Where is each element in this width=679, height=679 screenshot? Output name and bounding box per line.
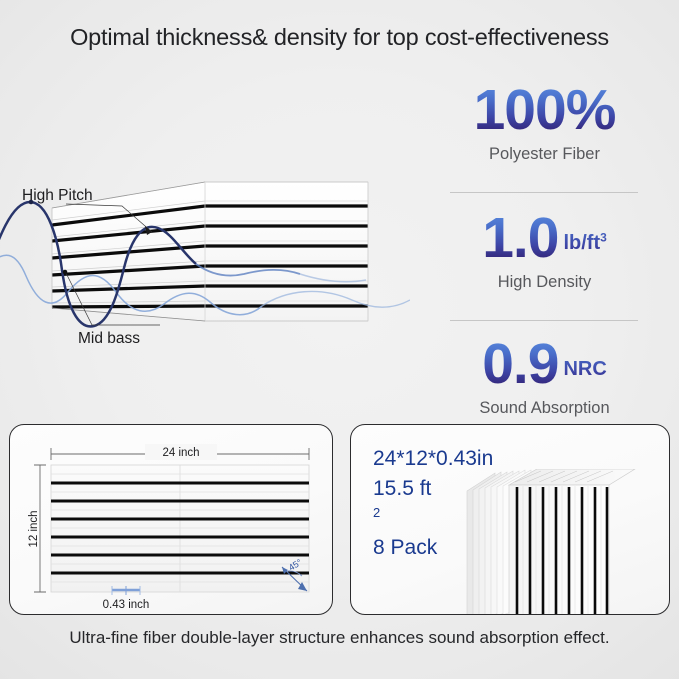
stat-label: Polyester Fiber xyxy=(420,145,669,164)
stat-value: 1.0 xyxy=(482,206,558,270)
stat-sound-absorption: 0.9NRC Sound Absorption xyxy=(420,336,669,418)
stat-unit-exponent: 3 xyxy=(600,230,607,244)
stack-top-face xyxy=(509,469,635,485)
dimension-card: 24 inch 12 inch 0.43 inch xyxy=(9,424,333,615)
stat-divider-1 xyxy=(450,192,638,193)
dimension-diagram: 24 inch 12 inch 0.43 inch xyxy=(10,425,331,613)
pack-area-exponent: 2 xyxy=(373,505,380,520)
infographic-root: Optimal thickness& density for top cost-… xyxy=(0,0,679,679)
stat-divider-2 xyxy=(450,320,638,321)
stat-value: 100% xyxy=(420,82,669,139)
stat-value-wrap: 0.9NRC xyxy=(420,336,669,393)
stat-unit: lb/ft3 xyxy=(563,232,606,254)
mid-bass-point xyxy=(63,270,68,275)
stat-value: 0.9 xyxy=(482,332,558,396)
stats-column: 100% Polyester Fiber 1.0lb/ft3 High Dens… xyxy=(420,82,669,412)
width-label: 24 inch xyxy=(162,447,199,459)
panel-slats xyxy=(52,182,368,321)
page-title: Optimal thickness& density for top cost-… xyxy=(0,24,679,51)
stat-high-density: 1.0lb/ft3 High Density xyxy=(420,210,669,292)
high-pitch-label: High Pitch xyxy=(22,187,93,204)
bottom-caption: Ultra-fine fiber double-layer structure … xyxy=(0,628,679,648)
stat-label: High Density xyxy=(420,273,669,292)
mid-bass-label: Mid bass xyxy=(78,330,140,347)
height-label: 12 inch xyxy=(28,510,40,547)
thickness-label: 0.43 inch xyxy=(103,599,150,611)
stat-value-wrap: 1.0lb/ft3 xyxy=(420,210,669,267)
pack-card: 24*12*0.43in 15.5 ft2 8 Pack xyxy=(350,424,670,615)
acoustic-panel-illustration: High Pitch Mid bass xyxy=(0,140,410,350)
stat-polyester-fiber: 100% Polyester Fiber xyxy=(420,82,669,164)
stat-label: Sound Absorption xyxy=(420,399,669,418)
panel-stack-graphic xyxy=(463,469,663,615)
stat-unit: NRC xyxy=(563,358,606,380)
